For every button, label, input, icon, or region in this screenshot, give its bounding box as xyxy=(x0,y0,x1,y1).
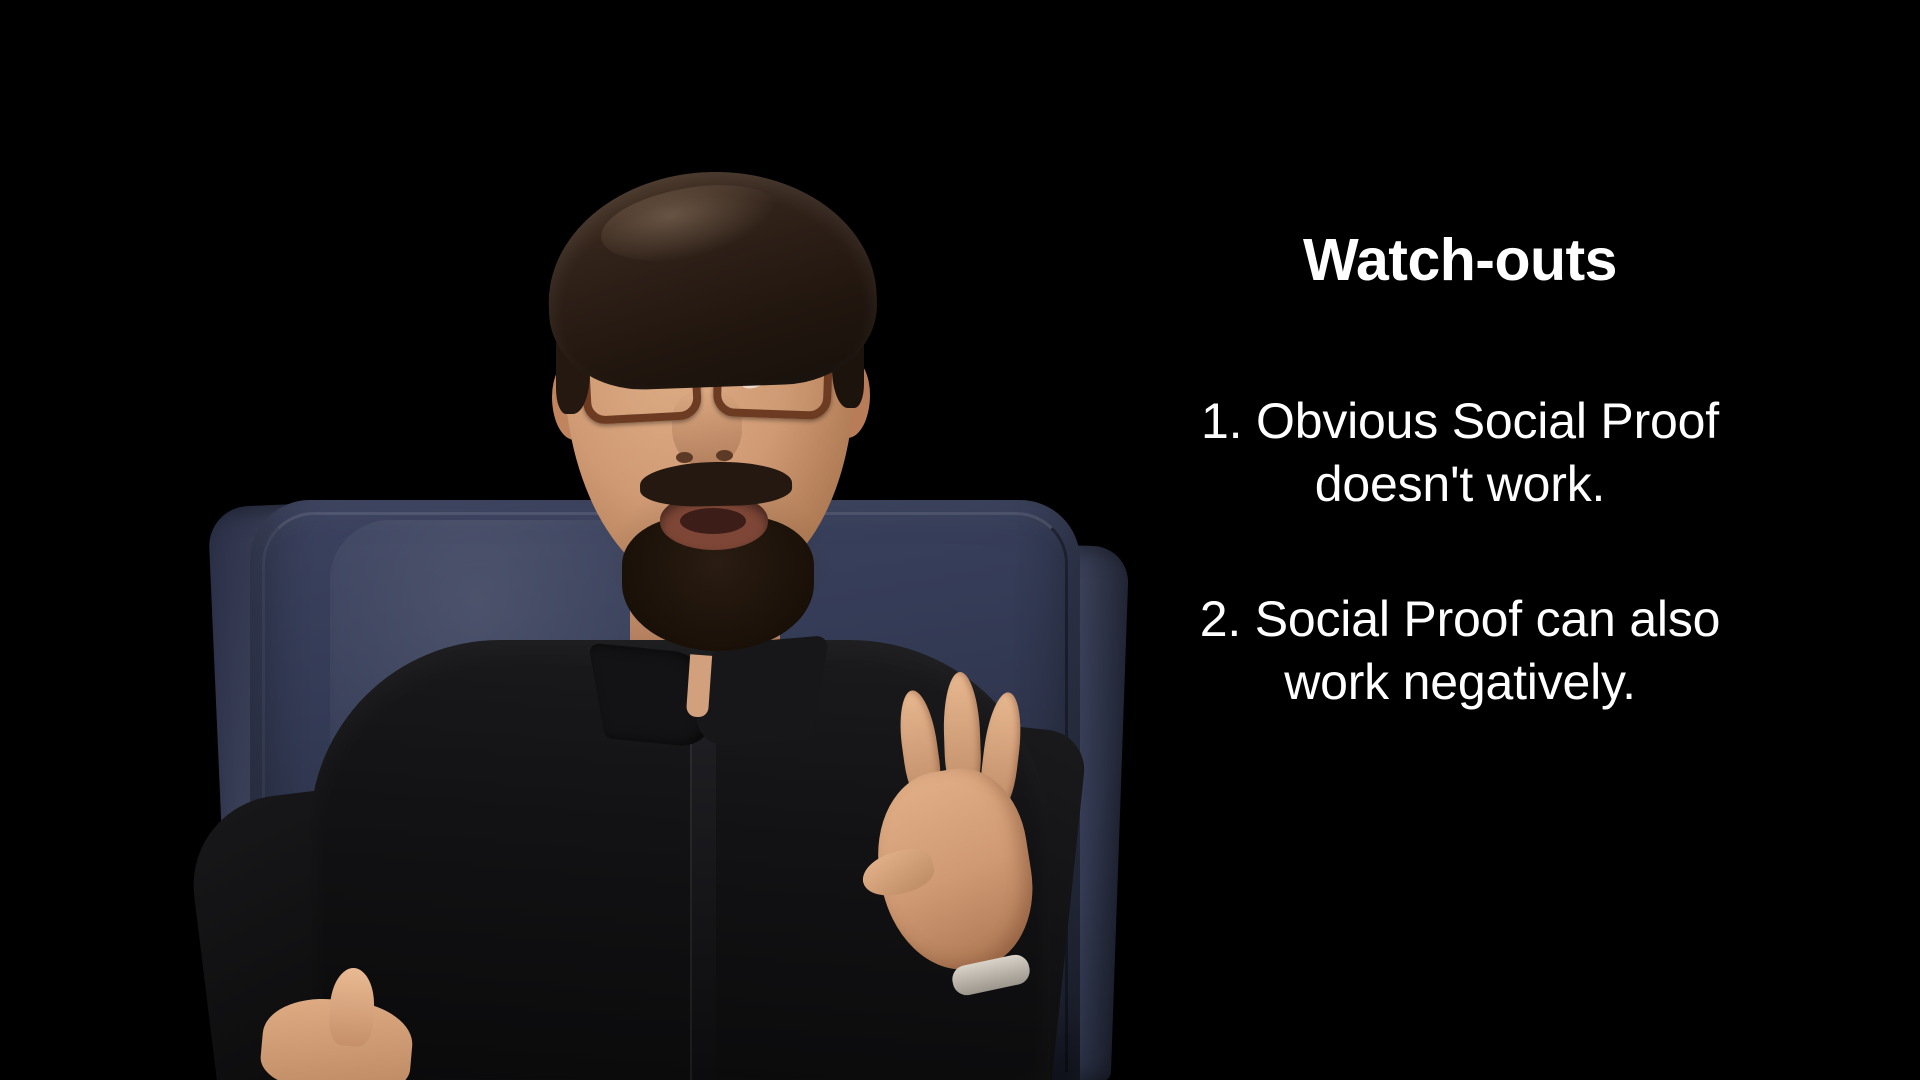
slide-text-panel: Watch-outs 1. Obvious Social Proof doesn… xyxy=(1170,0,1750,1080)
watch-outs-list: 1. Obvious Social Proof doesn't work. 2.… xyxy=(1152,390,1768,786)
mouth-opening xyxy=(680,508,746,534)
speaker-figure xyxy=(0,0,1210,1080)
shirt-collar-opening xyxy=(686,654,712,717)
shirt-placket xyxy=(690,700,716,1080)
slide-title: Watch-outs xyxy=(1170,230,1750,292)
video-slide-frame: Watch-outs 1. Obvious Social Proof doesn… xyxy=(0,0,1920,1080)
nostril-left xyxy=(676,452,693,463)
speaker-video-region xyxy=(0,0,1210,1080)
watch-out-item-2: 2. Social Proof can also work negatively… xyxy=(1152,588,1768,714)
watch-out-item-1: 1. Obvious Social Proof doesn't work. xyxy=(1152,390,1768,516)
nostril-right xyxy=(716,450,733,461)
